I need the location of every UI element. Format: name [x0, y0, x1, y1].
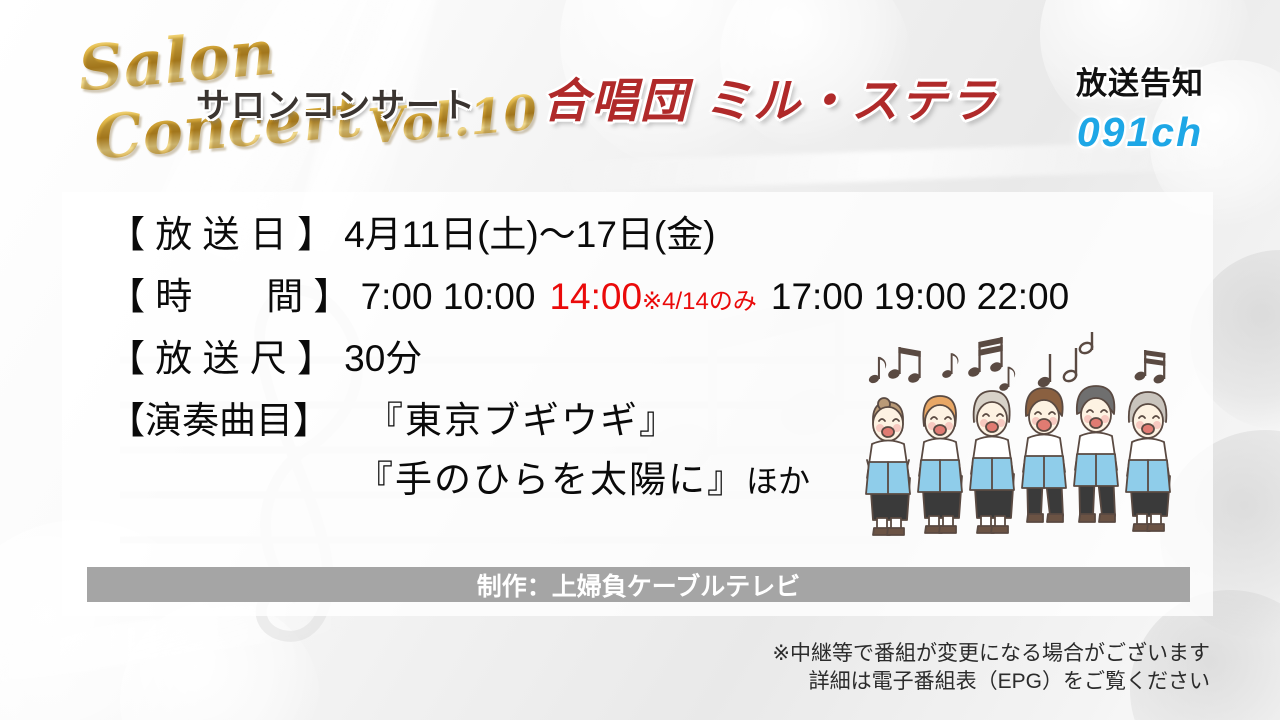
duration-value: 30分 — [344, 340, 422, 377]
singer-figure — [866, 386, 1170, 535]
song-title-2: 『手のひらを太陽に』 — [356, 459, 746, 500]
music-notes-group — [868, 332, 1166, 392]
songs-label: 【演奏曲目】 — [108, 402, 330, 439]
broadcast-announcement-slide: Salon Concert Vol.10 サロンコンサート 合唱団 ミル・ステラ… — [0, 0, 1280, 720]
broadcast-channel-block: 放送告知 091ch — [1030, 58, 1250, 156]
salon-concert-logo: Salon Concert Vol.10 サロンコンサート — [68, 20, 538, 175]
air-time-highlight-note: ※4/14のみ — [642, 290, 757, 314]
duration-label: 【 放 送 尺 】 — [108, 340, 334, 377]
production-credit-bar: 制作：上婦負ケーブルテレビ — [87, 567, 1190, 602]
air-time-highlight: 14:00 — [549, 278, 642, 315]
broadcast-notice-label: 放送告知 — [1030, 58, 1250, 103]
song-suffix: ほか — [746, 463, 810, 499]
logo-japanese-subtitle: サロンコンサート — [196, 78, 476, 127]
production-credit-text: 制作：上婦負ケーブルテレビ — [477, 567, 801, 603]
air-date-label: 【 放 送 日 】 — [108, 216, 334, 253]
disclaimer-line-2: 詳細は電子番組表（EPG）をご覧ください — [772, 668, 1210, 696]
choir-singers-illustration — [852, 332, 1182, 564]
song-title-1: 『東京ブギウギ』 — [366, 402, 678, 439]
channel-number: 091ch — [1030, 109, 1250, 156]
info-row-air-time: 【 時 間 】 7:00 10:00 14:00 ※4/14のみ 17:00 1… — [108, 278, 1208, 315]
air-date-value: 4月11日(土)〜17日(金) — [344, 216, 715, 253]
air-time-after: 17:00 19:00 22:00 — [771, 278, 1069, 315]
air-time-label: 【 時 間 】 — [108, 278, 351, 315]
footer-disclaimer: ※中継等で番組が変更になる場合がございます 詳細は電子番組表（EPG）をご覧くだ… — [772, 640, 1210, 697]
info-row-air-date: 【 放 送 日 】 4月11日(土)〜17日(金) — [108, 216, 1208, 253]
air-time-before: 7:00 10:00 — [361, 278, 536, 315]
choir-name-title: 合唱団 ミル・ステラ — [542, 62, 998, 131]
disclaimer-line-1: ※中継等で番組が変更になる場合がございます — [772, 640, 1210, 668]
